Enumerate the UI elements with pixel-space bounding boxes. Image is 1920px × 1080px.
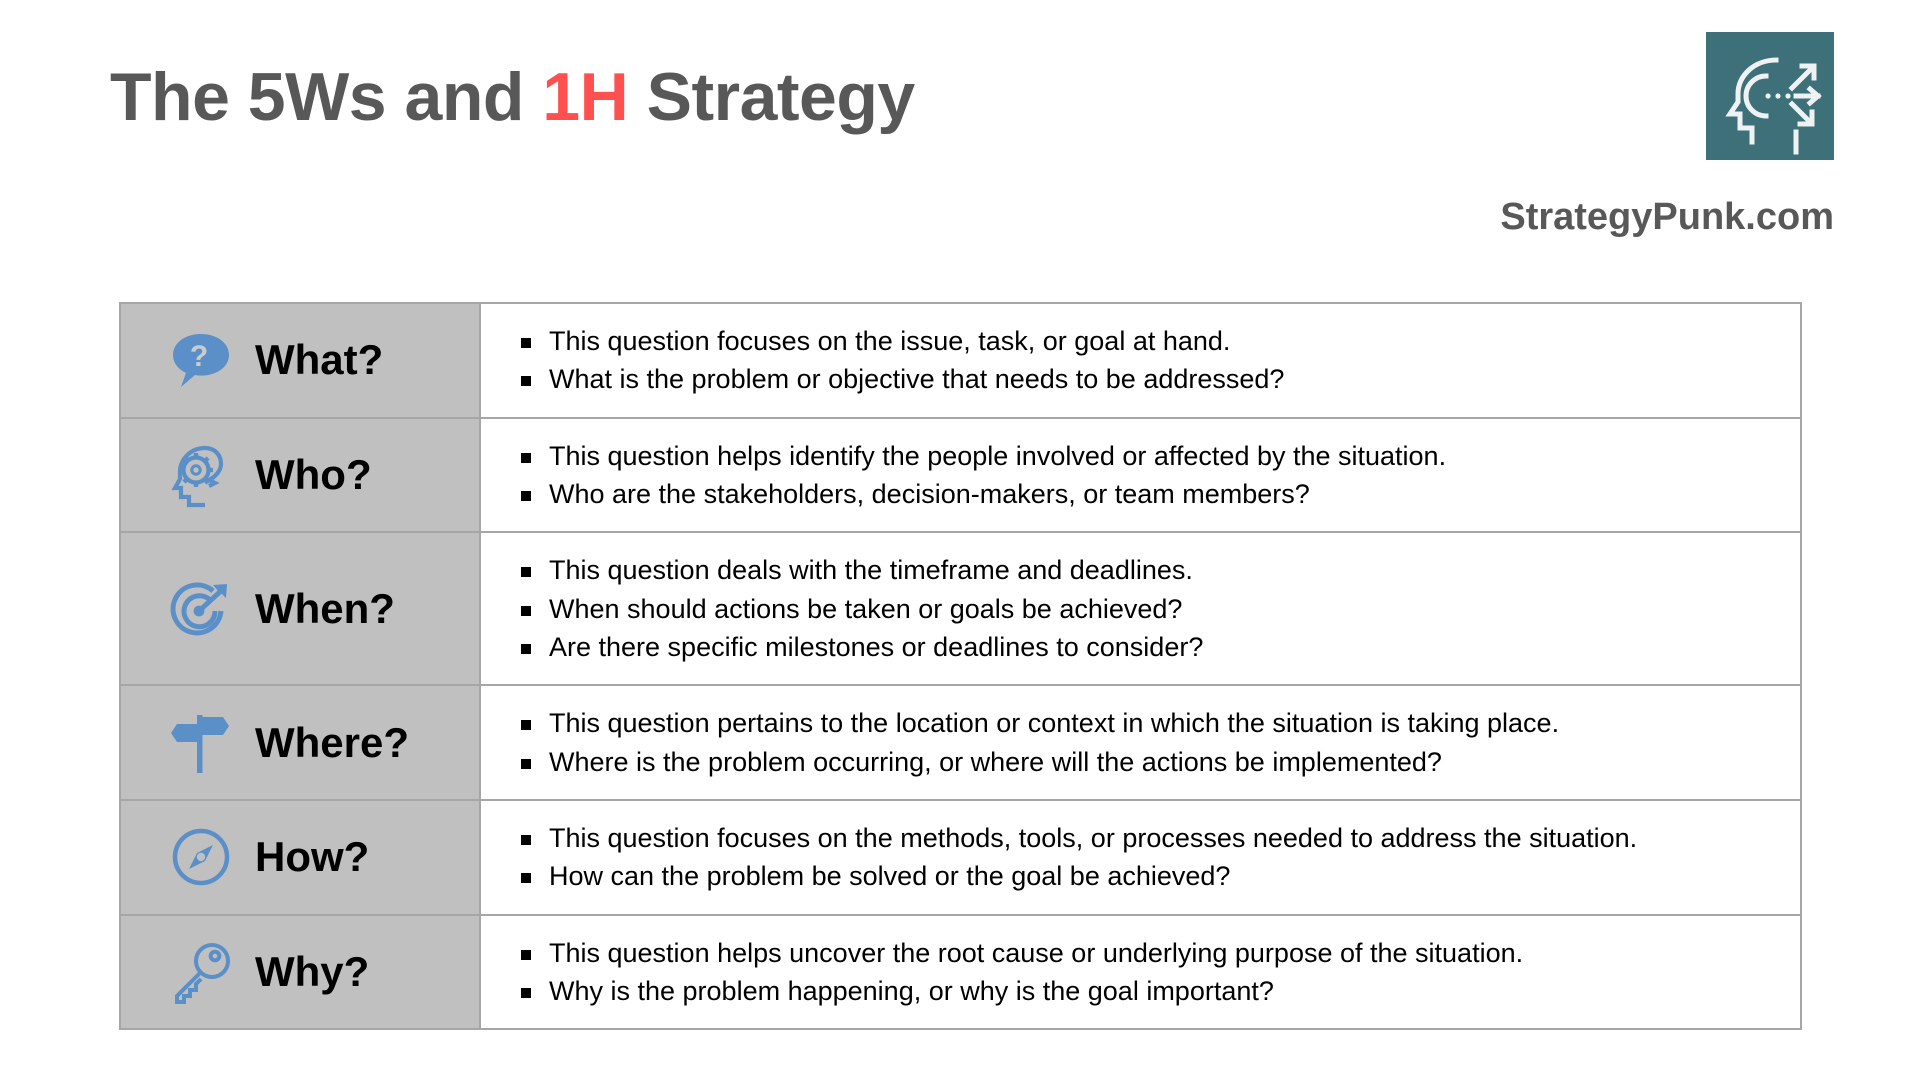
content-cell-how: This question focuses on the methods, to… — [480, 800, 1801, 915]
bullet-item: This question pertains to the location o… — [515, 704, 1780, 742]
table-row: ? What? This question focuses on the iss… — [120, 303, 1801, 418]
row-label: What? — [255, 339, 383, 381]
bullet-item: What is the problem or objective that ne… — [515, 360, 1780, 398]
speech-bubble-question-icon: ? — [165, 324, 237, 396]
row-label: When? — [255, 588, 395, 630]
label-cell-how: How? — [120, 800, 480, 915]
content-cell-who: This question helps identify the people … — [480, 418, 1801, 533]
page-title-part2: Strategy — [628, 59, 915, 135]
row-label: How? — [255, 836, 369, 878]
page-title-accent: 1H — [542, 59, 628, 135]
label-cell-why: Why? — [120, 915, 480, 1030]
row-label: Who? — [255, 454, 372, 496]
content-cell-what: This question focuses on the issue, task… — [480, 303, 1801, 418]
signpost-icon — [165, 707, 237, 779]
label-cell-who: Who? — [120, 418, 480, 533]
table-row: How? This question focuses on the method… — [120, 800, 1801, 915]
bullet-list: This question helps uncover the root cau… — [515, 934, 1780, 1011]
bullet-item: Are there specific milestones or deadlin… — [515, 628, 1780, 666]
table-row: Why? This question helps uncover the roo… — [120, 915, 1801, 1030]
table-row: Who? This question helps identify the pe… — [120, 418, 1801, 533]
five-ws-one-h-table: ? What? This question focuses on the iss… — [119, 302, 1802, 1030]
bullet-item: When should actions be taken or goals be… — [515, 590, 1780, 628]
label-cell-when: When? — [120, 532, 480, 685]
bullet-item: This question deals with the timeframe a… — [515, 551, 1780, 589]
head-gear-icon — [165, 439, 237, 511]
bullet-item: This question helps identify the people … — [515, 437, 1780, 475]
content-cell-why: This question helps uncover the root cau… — [480, 915, 1801, 1030]
row-label: Why? — [255, 951, 369, 993]
content-cell-when: This question deals with the timeframe a… — [480, 532, 1801, 685]
svg-text:?: ? — [190, 340, 208, 373]
table-body: ? What? This question focuses on the iss… — [120, 303, 1801, 1029]
bullet-item: This question helps uncover the root cau… — [515, 934, 1780, 972]
bullet-list: This question deals with the timeframe a… — [515, 551, 1780, 666]
bullet-list: This question focuses on the issue, task… — [515, 322, 1780, 399]
target-arrow-icon — [165, 573, 237, 645]
compass-icon — [165, 821, 237, 893]
bullet-list: This question pertains to the location o… — [515, 704, 1780, 781]
page-title-part1: The 5Ws and — [110, 59, 542, 135]
bullet-item: How can the problem be solved or the goa… — [515, 857, 1780, 895]
bullet-item: Where is the problem occurring, or where… — [515, 743, 1780, 781]
key-icon — [165, 936, 237, 1008]
bullet-item: This question focuses on the issue, task… — [515, 322, 1780, 360]
bullet-item: Who are the stakeholders, decision-maker… — [515, 475, 1780, 513]
slide-header: The 5Ws and 1H Strategy — [0, 0, 1920, 290]
head-with-arrows-icon — [1706, 32, 1834, 160]
row-label: Where? — [255, 722, 409, 764]
table-row: Where? This question pertains to the loc… — [120, 685, 1801, 800]
label-cell-where: Where? — [120, 685, 480, 800]
brand-name: StrategyPunk.com — [1500, 196, 1834, 239]
bullet-list: This question helps identify the people … — [515, 437, 1780, 514]
page-title: The 5Ws and 1H Strategy — [110, 62, 915, 133]
bullet-item: This question focuses on the methods, to… — [515, 819, 1780, 857]
brand-logo — [1706, 32, 1834, 160]
table-row: When? This question deals with the timef… — [120, 532, 1801, 685]
bullet-list: This question focuses on the methods, to… — [515, 819, 1780, 896]
label-cell-what: ? What? — [120, 303, 480, 418]
content-cell-where: This question pertains to the location o… — [480, 685, 1801, 800]
bullet-item: Why is the problem happening, or why is … — [515, 972, 1780, 1010]
